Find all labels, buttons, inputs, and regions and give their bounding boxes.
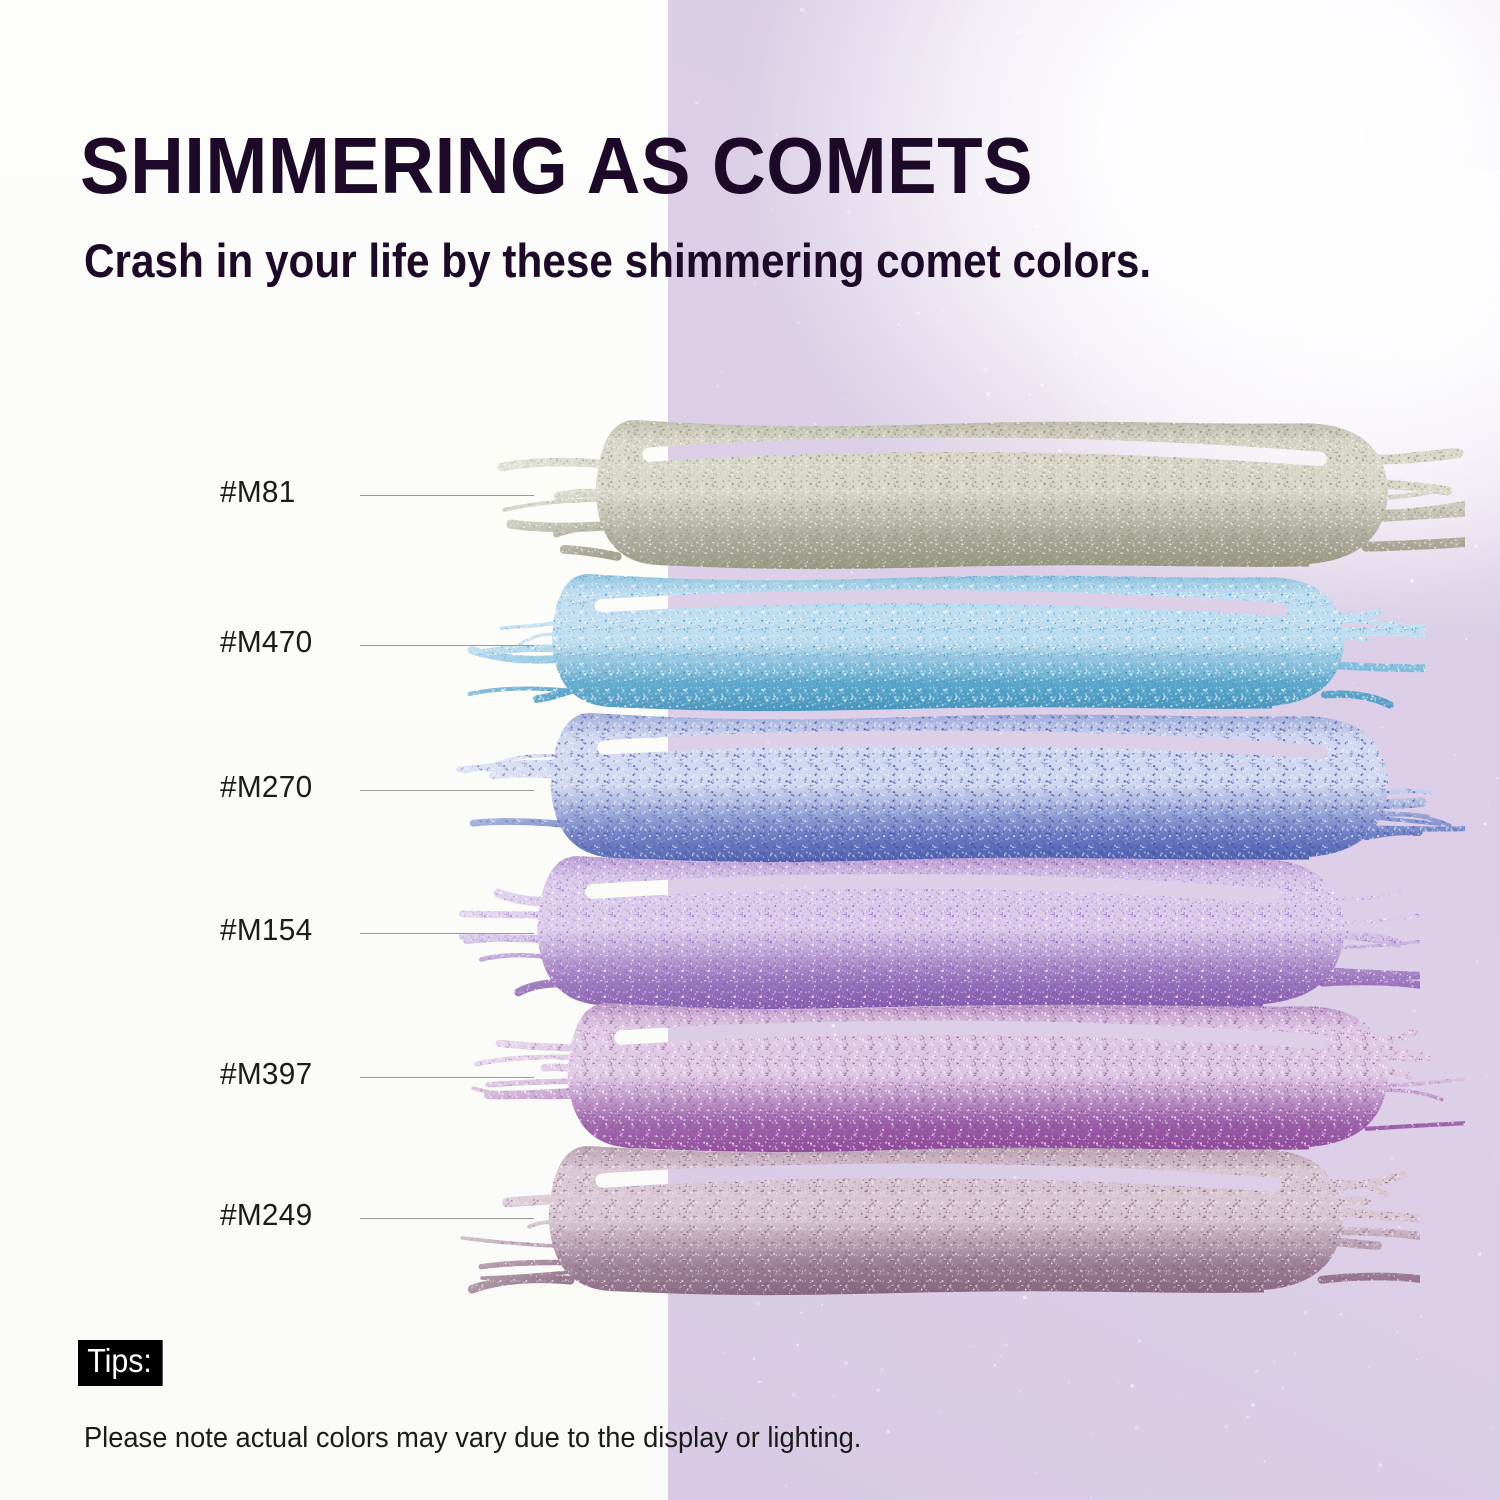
swatch-label: #M154	[220, 912, 312, 948]
tips-badge: Tips:	[78, 1340, 163, 1386]
swatch-label: #M249	[220, 1197, 312, 1233]
swatch-leader-line	[360, 790, 534, 791]
swatch-label: #M270	[220, 769, 312, 805]
swatch-leader-line	[360, 1077, 534, 1078]
tips-note: Please note actual colors may vary due t…	[84, 1422, 861, 1455]
poster-canvas: SHIMMERING AS COMETS Crash in your life …	[0, 0, 1500, 1500]
swatch-leader-line	[360, 933, 534, 934]
swatch-label: #M470	[220, 624, 312, 660]
swatch-leader-line	[360, 1218, 534, 1219]
swatch-leader-line	[360, 645, 534, 646]
swatch-label: #M397	[220, 1056, 312, 1092]
color-swatch-m249	[443, 1101, 1420, 1335]
swatch-label: #M81	[220, 474, 296, 510]
page-subtitle: Crash in your life by these shimmering c…	[84, 237, 1151, 284]
swatch-leader-line	[360, 495, 534, 496]
page-title: SHIMMERING AS COMETS	[80, 126, 1033, 206]
